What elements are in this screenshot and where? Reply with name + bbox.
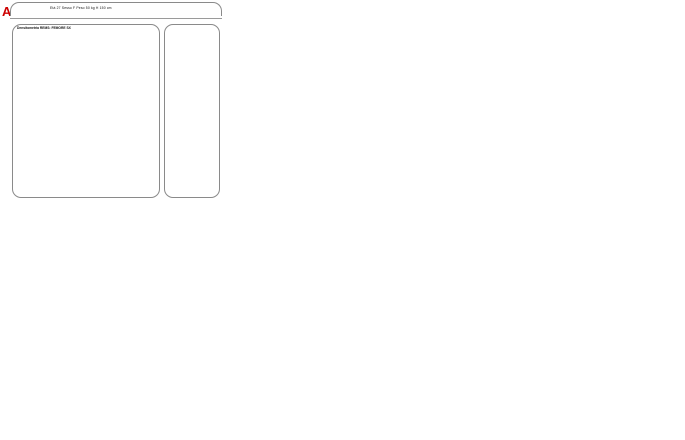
patient-info: Età 27 Sesso F Peso 50 kg H 150 cm [50,6,112,10]
femur-image-box [164,24,220,198]
section-title: Densitometria REMS: FEMORE SX [17,26,71,30]
patient-header-card [10,2,222,16]
femur-report-box [12,24,160,198]
header-divider [10,18,222,19]
